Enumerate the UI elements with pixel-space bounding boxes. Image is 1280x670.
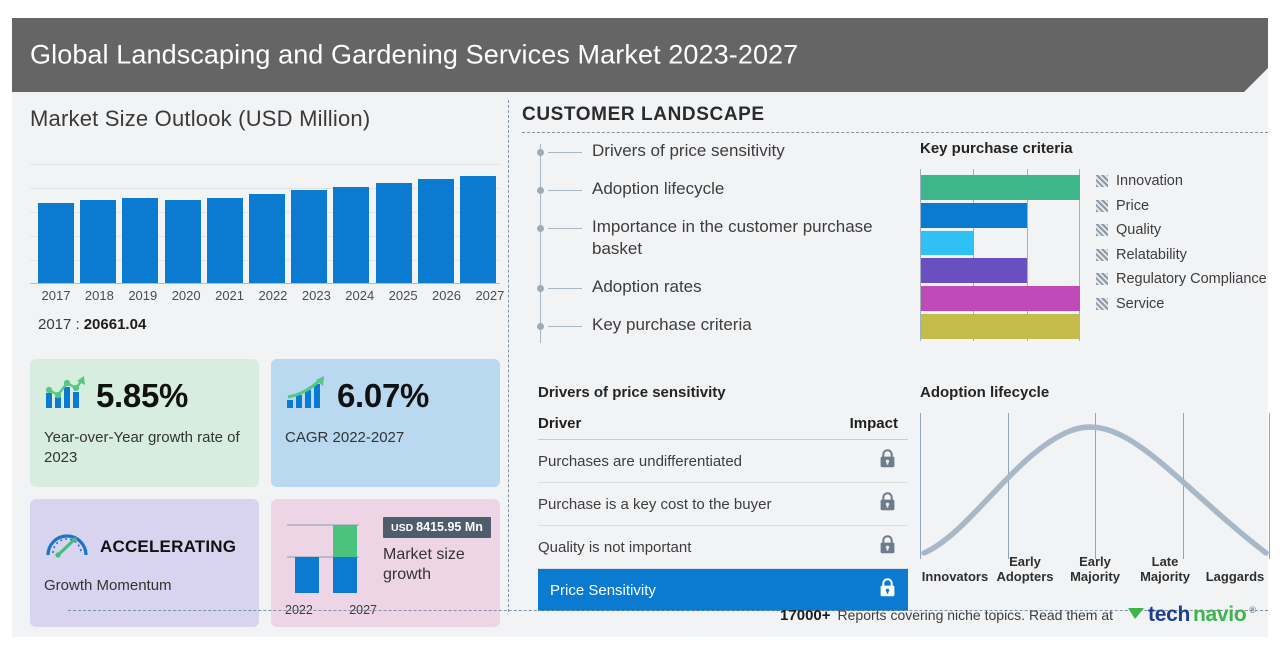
drivers-title: Drivers of price sensitivity xyxy=(538,384,908,401)
legend-label: Regulatory Compliance xyxy=(1116,271,1267,287)
customer-landscape-panel: CUSTOMER LANDSCAPE Drivers of price sens… xyxy=(522,104,1262,624)
footer-text: Reports covering niche topics. Read them… xyxy=(838,607,1113,623)
kpc-body: InnovationPriceQualityRelatabilityRegula… xyxy=(920,169,1270,341)
yoy-caption: Year-over-Year growth rate of 2023 xyxy=(44,428,245,468)
growth-card-caption: Market size growth xyxy=(383,545,500,586)
customer-landscape-list: Drivers of price sensitivity Adoption li… xyxy=(540,140,900,353)
bar-column xyxy=(418,164,454,284)
kpc-bar-rows xyxy=(921,175,1080,339)
column-header-driver: Driver xyxy=(538,415,581,432)
hatch-swatch-icon xyxy=(1096,249,1108,261)
legend-label: Price xyxy=(1116,198,1149,214)
x-tick-label: 2020 xyxy=(168,288,204,303)
chart-axis xyxy=(30,283,500,284)
market-size-heading: Market Size Outlook (USD Million) xyxy=(30,106,512,132)
badge-currency: USD xyxy=(391,522,413,534)
kpc-bar xyxy=(921,175,1080,200)
bar xyxy=(333,187,369,284)
legend-item: Price xyxy=(1096,198,1267,214)
bullet-dot-icon xyxy=(537,285,544,292)
reports-count: 17000+ xyxy=(780,607,830,624)
title-bar: Global Landscaping and Gardening Service… xyxy=(12,18,1268,92)
growth-mini-chart xyxy=(285,517,371,603)
list-item-label: Key purchase criteria xyxy=(592,315,752,334)
lifecycle-plot: InnovatorsEarlyAdoptersEarlyMajorityLate… xyxy=(920,413,1270,585)
x-tick-label: 2021 xyxy=(212,288,248,303)
first-year-number: 20661.04 xyxy=(84,316,147,333)
branch-line xyxy=(548,326,582,327)
cagr-card: 6.07% CAGR 2022-2027 xyxy=(271,359,500,487)
bullet-dot-icon xyxy=(537,323,544,330)
bullet-dot-icon xyxy=(537,149,544,156)
speedometer-icon xyxy=(44,529,90,564)
bar-column xyxy=(460,164,496,284)
yoy-card-top: 5.85% xyxy=(44,375,245,416)
bar xyxy=(376,183,412,284)
bar-column xyxy=(38,164,74,284)
momentum-value: ACCELERATING xyxy=(100,537,236,557)
legend-label: Quality xyxy=(1116,222,1161,238)
market-size-badge: USD8415.95 Mn xyxy=(383,517,491,538)
list-item-label: Adoption lifecycle xyxy=(592,179,724,198)
kpc-bar xyxy=(921,258,1027,283)
list-item[interactable]: Drivers of price sensitivity xyxy=(540,140,900,162)
kpc-bars xyxy=(920,169,1080,341)
kpc-bar xyxy=(921,231,974,256)
kpc-row xyxy=(921,314,1080,339)
kpc-bar xyxy=(921,314,1080,339)
chart-x-axis-labels: 2017201820192020202120222023202420252026… xyxy=(38,288,508,303)
yoy-growth-card: 5.85% Year-over-Year growth rate of 2023 xyxy=(30,359,259,487)
cagr-caption: CAGR 2022-2027 xyxy=(285,428,486,448)
section-underline xyxy=(522,132,1268,133)
first-year-label: 2017 : xyxy=(38,316,80,333)
stat-cards-row-1: 5.85% Year-over-Year growth rate of 2023 xyxy=(30,359,500,487)
drivers-table: Driver Impact Purchases are undifferenti… xyxy=(538,415,908,611)
vertical-dashed-divider xyxy=(508,100,509,612)
logo-text-secondary: navio xyxy=(1193,603,1246,627)
branch-line xyxy=(548,152,582,153)
bar xyxy=(122,198,158,284)
legend-item: Service xyxy=(1096,296,1267,312)
legend-item: Innovation xyxy=(1096,173,1267,189)
driver-cell: Purchases are undifferentiated xyxy=(538,453,742,470)
logo-text-primary: tech xyxy=(1148,603,1190,627)
bar xyxy=(80,200,116,284)
bar-column xyxy=(376,164,412,284)
hatch-swatch-icon xyxy=(1096,298,1108,310)
momentum-card-top: ACCELERATING xyxy=(44,529,245,564)
legend-label: Service xyxy=(1116,296,1164,312)
first-year-value: 2017 :20661.04 xyxy=(38,316,146,333)
hatch-swatch-icon xyxy=(1096,224,1108,236)
bar-column xyxy=(165,164,201,284)
lock-icon[interactable] xyxy=(879,449,896,473)
column-header-impact: Impact xyxy=(850,415,898,432)
list-item-label: Importance in the customer purchase bask… xyxy=(592,217,873,258)
lifecycle-x-labels: InnovatorsEarlyAdoptersEarlyMajorityLate… xyxy=(920,545,1270,585)
kpc-legend: InnovationPriceQualityRelatabilityRegula… xyxy=(1096,169,1267,341)
list-item[interactable]: Importance in the customer purchase bask… xyxy=(540,216,900,260)
table-body: Purchases are undifferentiatedPurchase i… xyxy=(538,440,908,611)
drivers-table-section: Drivers of price sensitivity Driver Impa… xyxy=(538,384,908,611)
bar xyxy=(207,198,243,284)
adoption-lifecycle-chart: Adoption lifecycle InnovatorsEarlyAdopte… xyxy=(920,384,1272,585)
lock-icon[interactable] xyxy=(879,492,896,516)
footer-content: 17000+ Reports covering niche topics. Re… xyxy=(780,603,1256,627)
bullet-dot-icon xyxy=(537,187,544,194)
list-item[interactable]: Key purchase criteria xyxy=(540,314,900,336)
content-canvas: Market Size Outlook (USD Million) 201720… xyxy=(12,92,1268,637)
kpc-row xyxy=(921,258,1080,283)
x-tick-label: 2026 xyxy=(429,288,465,303)
kpc-row xyxy=(921,231,1080,256)
momentum-caption: Growth Momentum xyxy=(44,576,245,596)
x-tick-label: 2027 xyxy=(472,288,508,303)
kpc-bar xyxy=(921,286,1080,311)
footer: 17000+ Reports covering niche topics. Re… xyxy=(12,597,1268,631)
branch-line xyxy=(548,228,582,229)
table-row[interactable]: Quality is not important xyxy=(538,526,908,569)
table-row[interactable]: Purchases are undifferentiated xyxy=(538,440,908,483)
bar-arrow-growth-icon xyxy=(285,375,327,416)
table-header-row: Driver Impact xyxy=(538,415,908,440)
yoy-value: 5.85% xyxy=(96,377,188,415)
driver-cell: Price Sensitivity xyxy=(550,582,656,599)
x-tick-label: 2024 xyxy=(342,288,378,303)
bar-column xyxy=(80,164,116,284)
page-title: Global Landscaping and Gardening Service… xyxy=(30,40,798,71)
kpc-title: Key purchase criteria xyxy=(920,140,1270,157)
list-item-label: Drivers of price sensitivity xyxy=(592,141,785,160)
lifecycle-stage-label: Innovators xyxy=(920,570,990,585)
x-tick-label: 2019 xyxy=(125,288,161,303)
bar-column xyxy=(333,164,369,284)
bullet-dot-icon xyxy=(537,225,544,232)
list-item-label: Adoption rates xyxy=(592,277,702,296)
cagr-card-top: 6.07% xyxy=(285,375,486,416)
bar xyxy=(38,203,74,284)
legend-label: Relatability xyxy=(1116,247,1187,263)
kpc-row xyxy=(921,175,1080,200)
legend-item: Regulatory Compliance xyxy=(1096,271,1267,287)
list-item[interactable]: Adoption lifecycle xyxy=(540,178,900,200)
driver-cell: Purchase is a key cost to the buyer xyxy=(538,496,771,513)
legend-item: Quality xyxy=(1096,222,1267,238)
kpc-row xyxy=(921,203,1080,228)
list-item[interactable]: Adoption rates xyxy=(540,276,900,298)
customer-landscape-title: CUSTOMER LANDSCAPE xyxy=(522,104,765,126)
bar xyxy=(460,176,496,284)
lifecycle-title: Adoption lifecycle xyxy=(920,384,1272,401)
lock-icon[interactable] xyxy=(879,535,896,559)
x-tick-label: 2018 xyxy=(81,288,117,303)
x-tick-label: 2017 xyxy=(38,288,74,303)
lifecycle-stage-label: EarlyAdopters xyxy=(990,555,1060,585)
bar xyxy=(165,200,201,284)
technavio-logo[interactable]: tech navio ® xyxy=(1128,603,1256,627)
bar-column xyxy=(291,164,327,284)
logo-trademark: ® xyxy=(1249,605,1256,615)
lifecycle-stage-label: LateMajority xyxy=(1130,555,1200,585)
branch-line xyxy=(548,190,582,191)
bar-line-growth-icon xyxy=(44,375,86,416)
lifecycle-curve xyxy=(920,413,1270,559)
legend-item: Relatability xyxy=(1096,247,1267,263)
infographic-page: Global Landscaping and Gardening Service… xyxy=(0,0,1280,670)
kpc-row xyxy=(921,286,1080,311)
bar-column xyxy=(249,164,285,284)
bar-column xyxy=(207,164,243,284)
x-tick-label: 2023 xyxy=(298,288,334,303)
hatch-swatch-icon xyxy=(1096,273,1108,285)
market-size-bar-chart xyxy=(30,164,500,284)
kpc-bar xyxy=(921,203,1027,228)
lifecycle-stage-label: EarlyMajority xyxy=(1060,555,1130,585)
chart-bars xyxy=(38,164,496,284)
branch-line xyxy=(548,288,582,289)
table-row[interactable]: Purchase is a key cost to the buyer xyxy=(538,483,908,526)
legend-label: Innovation xyxy=(1116,173,1183,189)
bar xyxy=(291,190,327,284)
hatch-swatch-icon xyxy=(1096,200,1108,212)
x-tick-label: 2022 xyxy=(255,288,291,303)
hatch-swatch-icon xyxy=(1096,175,1108,187)
lifecycle-stage-label: Laggards xyxy=(1200,570,1270,585)
driver-cell: Quality is not important xyxy=(538,539,691,556)
badge-value: 8415.95 Mn xyxy=(416,520,483,534)
cagr-value: 6.07% xyxy=(337,377,429,415)
bar xyxy=(249,194,285,284)
x-tick-label: 2025 xyxy=(385,288,421,303)
market-size-panel: Market Size Outlook (USD Million) 201720… xyxy=(30,106,512,626)
bar-column xyxy=(122,164,158,284)
logo-arrow-icon xyxy=(1128,605,1145,626)
key-purchase-criteria-chart: Key purchase criteria InnovationPriceQua… xyxy=(920,140,1270,341)
bar xyxy=(418,179,454,284)
